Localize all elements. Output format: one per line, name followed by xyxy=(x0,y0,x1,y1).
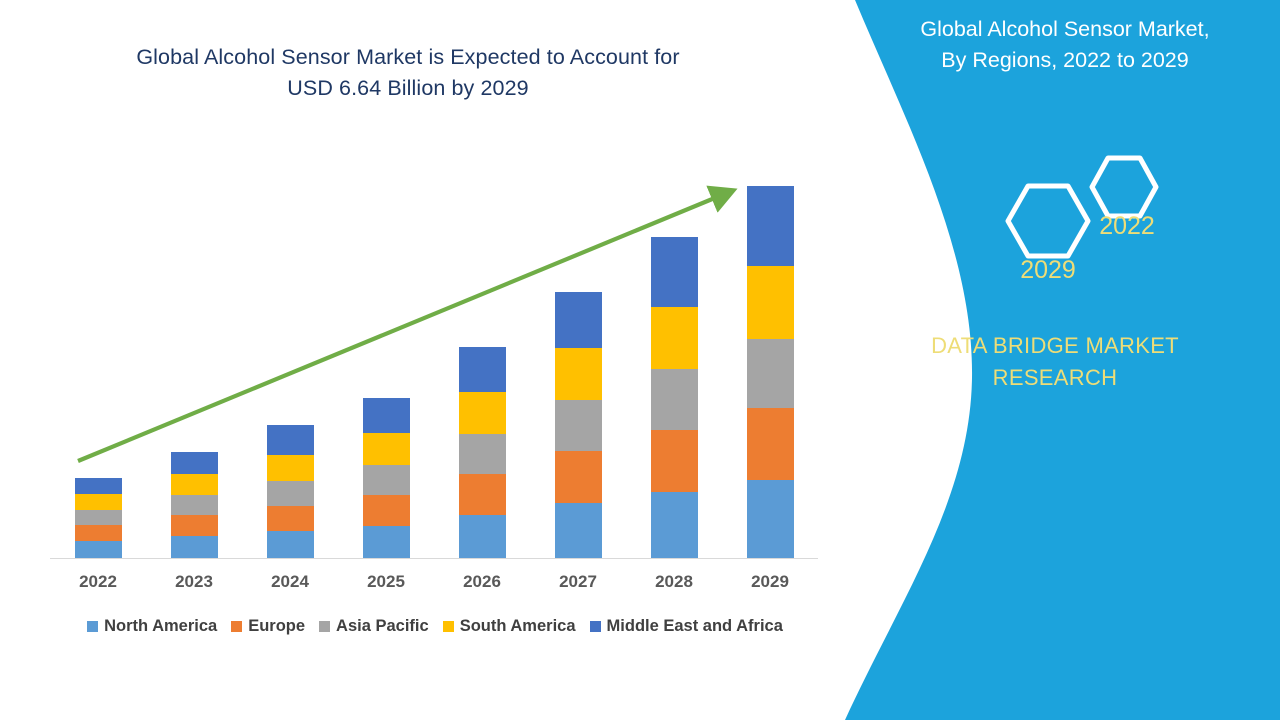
bar-segment xyxy=(75,494,122,510)
bar-segment xyxy=(75,510,122,525)
bar-segment xyxy=(171,536,218,558)
bar-segment xyxy=(747,339,794,409)
bar-segment xyxy=(747,186,794,266)
bar-segment xyxy=(459,474,506,515)
bar-segment xyxy=(171,452,218,474)
bar-group-2024 xyxy=(242,425,338,558)
brand-title-line-1: Global Alcohol Sensor Market, xyxy=(860,14,1270,45)
legend-item[interactable]: Middle East and Africa xyxy=(590,617,783,636)
bar-segment xyxy=(171,474,218,495)
bar-segment xyxy=(651,430,698,492)
legend-label: South America xyxy=(460,617,576,636)
bar-segment xyxy=(267,506,314,531)
x-axis-labels: 20222023202420252026202720282029 xyxy=(50,572,818,598)
legend-label: North America xyxy=(104,617,217,636)
x-axis-tick-2022: 2022 xyxy=(50,572,146,592)
bar-segment xyxy=(171,495,218,515)
chart-legend: North AmericaEuropeAsia PacificSouth Ame… xyxy=(50,617,820,636)
legend-swatch-icon xyxy=(443,621,454,632)
legend-label: Middle East and Africa xyxy=(607,617,783,636)
bar-segment xyxy=(555,503,602,558)
bar-segment xyxy=(555,451,602,503)
x-axis-tick-2027: 2027 xyxy=(530,572,626,592)
bar-segment xyxy=(363,433,410,465)
bar-segment xyxy=(267,425,314,455)
brand-name-line-2: RESEARCH xyxy=(850,362,1260,394)
bar-segment xyxy=(555,292,602,348)
x-axis-tick-2026: 2026 xyxy=(434,572,530,592)
brand-name-line-1: DATA BRIDGE MARKET xyxy=(850,330,1260,362)
chart-title-line-1: Global Alcohol Sensor Market is Expected… xyxy=(38,42,778,73)
hexagon-label-2022: 2022 xyxy=(1082,212,1172,241)
brand-name: DATA BRIDGE MARKET RESEARCH xyxy=(850,330,1260,394)
bar-segment xyxy=(651,307,698,370)
brand-panel: Global Alcohol Sensor Market, By Regions… xyxy=(820,0,1280,720)
bar-segment xyxy=(651,492,698,558)
legend-swatch-icon xyxy=(590,621,601,632)
legend-swatch-icon xyxy=(231,621,242,632)
bar-segment xyxy=(747,408,794,480)
bar-segment xyxy=(555,400,602,451)
bar-group-2029 xyxy=(722,186,818,558)
x-axis-tick-2023: 2023 xyxy=(146,572,242,592)
legend-label: Asia Pacific xyxy=(336,617,429,636)
infographic-root: Global Alcohol Sensor Market is Expected… xyxy=(0,0,1280,720)
x-axis-tick-2024: 2024 xyxy=(242,572,338,592)
bar-segment xyxy=(747,266,794,339)
bar-group-2026 xyxy=(434,347,530,558)
bar-group-2023 xyxy=(146,452,242,558)
hexagon-group: 2022 2029 xyxy=(960,140,1220,290)
brand-title: Global Alcohol Sensor Market, By Regions… xyxy=(860,14,1270,76)
bar-segment xyxy=(459,434,506,474)
bar-segment xyxy=(459,515,506,558)
bar-segment xyxy=(651,369,698,430)
bar-segment xyxy=(555,348,602,401)
bar-segment xyxy=(75,478,122,494)
bar-group-2022 xyxy=(50,478,146,558)
chart-title: Global Alcohol Sensor Market is Expected… xyxy=(38,42,778,104)
brand-title-line-2: By Regions, 2022 to 2029 xyxy=(860,45,1270,76)
chart-panel: Global Alcohol Sensor Market is Expected… xyxy=(0,0,840,720)
x-axis-tick-2029: 2029 xyxy=(722,572,818,592)
bar-group-2028 xyxy=(626,237,722,558)
bar-segment xyxy=(267,455,314,481)
bar-series-container xyxy=(50,140,818,559)
bar-segment xyxy=(459,392,506,434)
hexagon-label-2029: 2029 xyxy=(998,256,1098,285)
legend-item[interactable]: Asia Pacific xyxy=(319,617,429,636)
bar-segment xyxy=(267,531,314,558)
bar-segment xyxy=(651,237,698,307)
legend-item[interactable]: North America xyxy=(87,617,217,636)
bar-segment xyxy=(267,481,314,506)
bar-segment xyxy=(171,515,218,536)
legend-item[interactable]: South America xyxy=(443,617,576,636)
x-axis-tick-2028: 2028 xyxy=(626,572,722,592)
bar-segment xyxy=(747,480,794,558)
brand-content: Global Alcohol Sensor Market, By Regions… xyxy=(820,0,1280,720)
bar-segment xyxy=(75,541,122,558)
bar-group-2027 xyxy=(530,292,626,558)
bar-segment xyxy=(363,398,410,433)
chart-title-line-2: USD 6.64 Billion by 2029 xyxy=(38,73,778,104)
legend-item[interactable]: Europe xyxy=(231,617,305,636)
legend-label: Europe xyxy=(248,617,305,636)
bar-segment xyxy=(363,465,410,495)
plot-area xyxy=(50,140,818,559)
legend-swatch-icon xyxy=(87,621,98,632)
bar-segment xyxy=(363,495,410,526)
x-axis-tick-2025: 2025 xyxy=(338,572,434,592)
legend-swatch-icon xyxy=(319,621,330,632)
bar-segment xyxy=(75,525,122,541)
bar-segment xyxy=(459,347,506,393)
bar-segment xyxy=(363,526,410,558)
bar-group-2025 xyxy=(338,398,434,558)
